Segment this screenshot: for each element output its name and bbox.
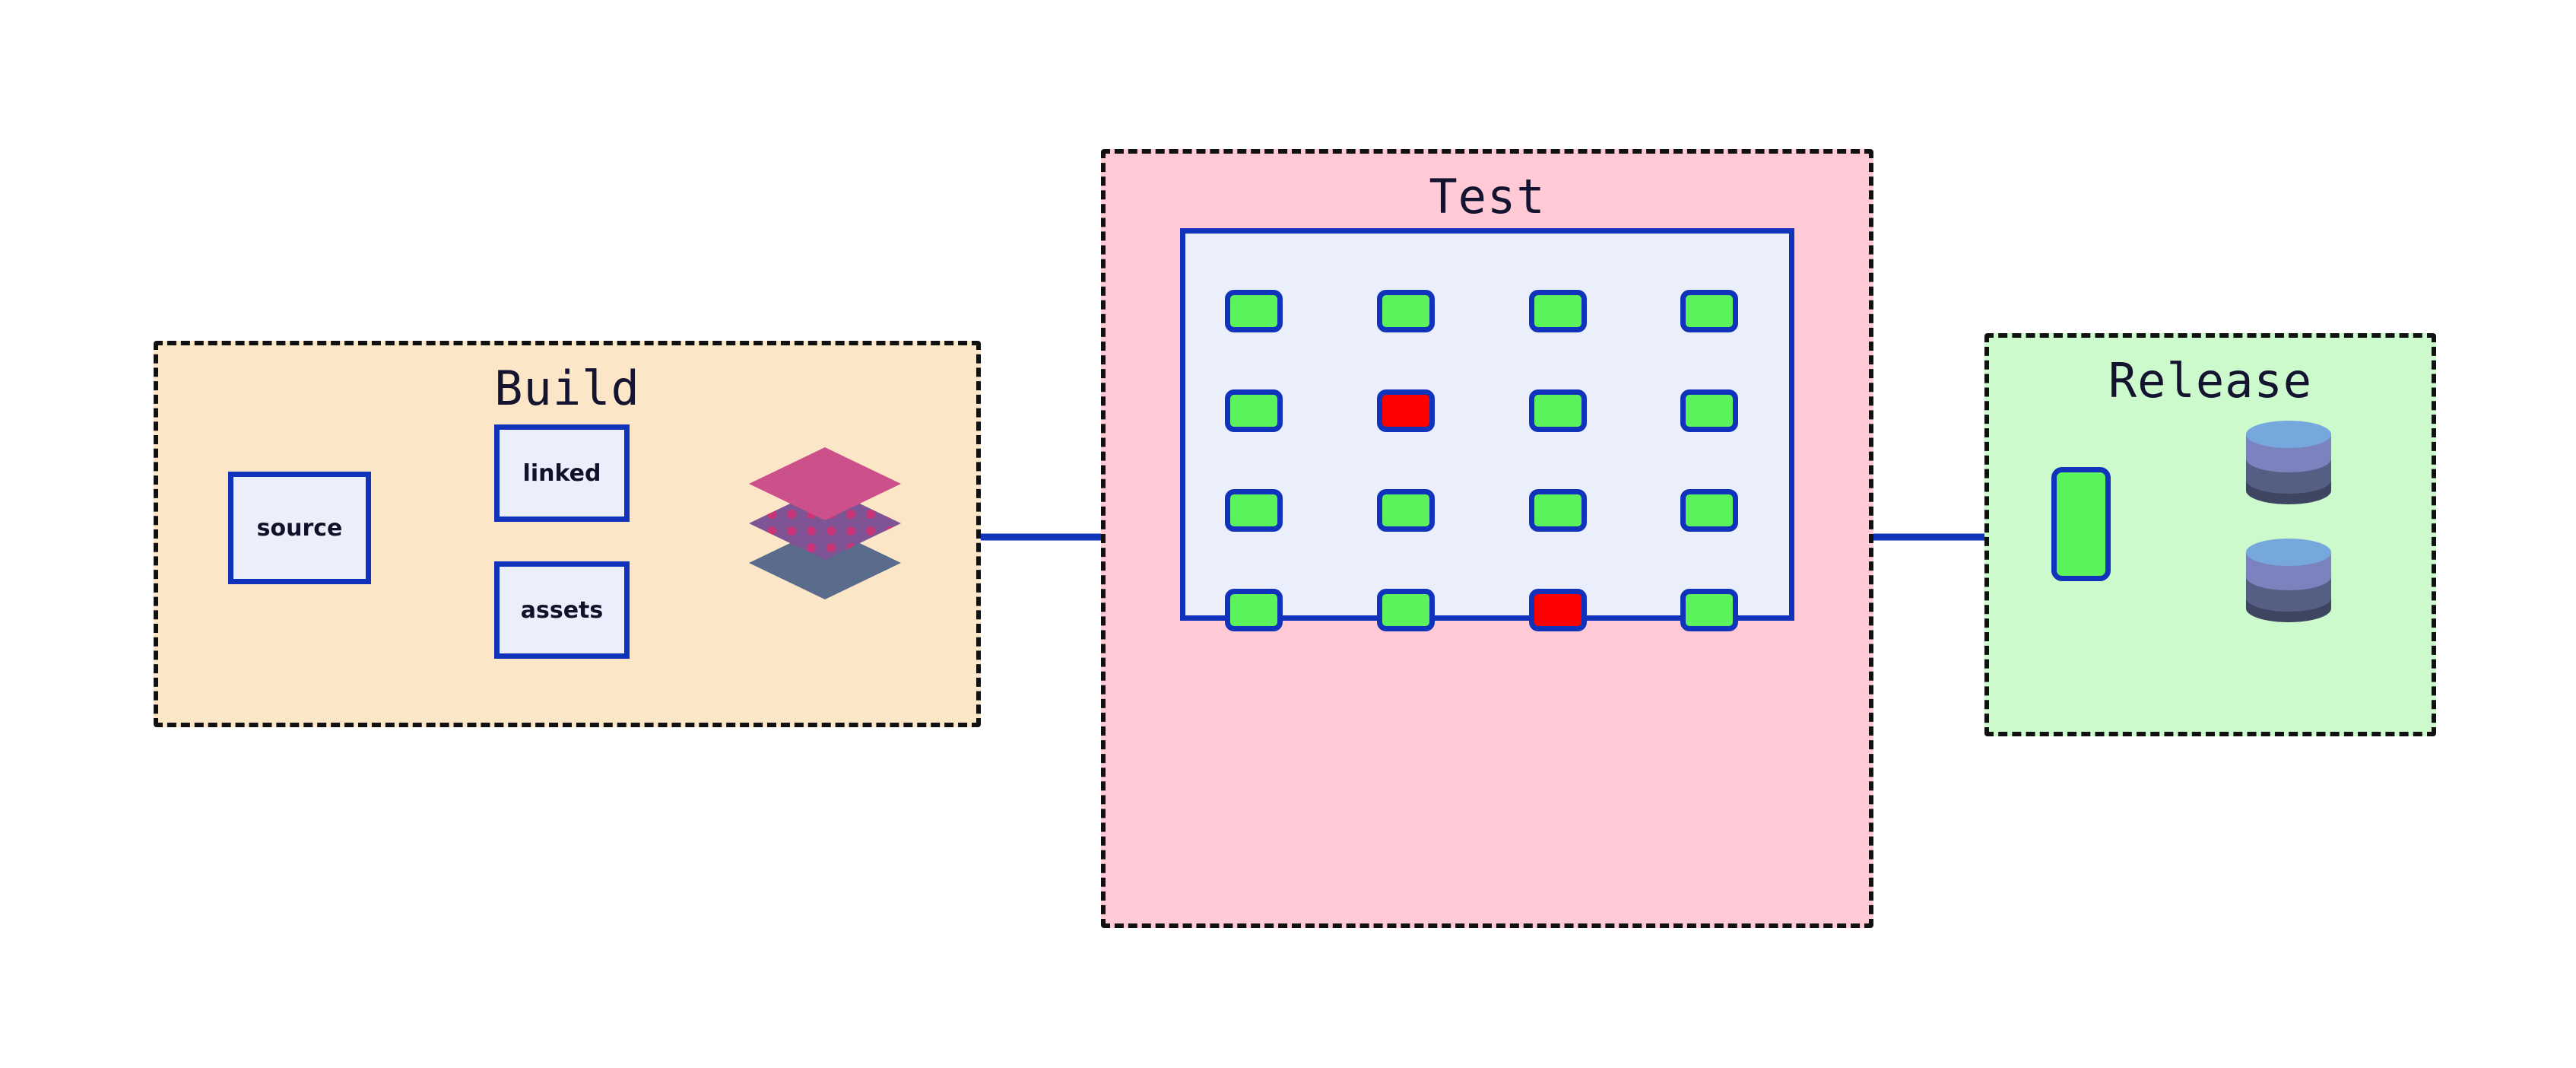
node-linked-label: linked [523,460,601,487]
stage-build-title: Build [158,365,976,412]
test-cell-fail-r2c2[interactable] [1377,389,1435,432]
test-cell-pass-r4c4[interactable] [1680,589,1738,631]
test-cell-pass-r2c4[interactable] [1680,389,1738,432]
test-cell-pass-r3c1[interactable] [1225,489,1283,532]
test-cell-pass-r1c2[interactable] [1377,290,1435,332]
node-source-label: source [257,515,343,542]
stacked-layers-icon [745,441,905,609]
node-linked[interactable]: linked [494,424,630,522]
test-results-panel [1180,228,1794,621]
test-cell-pass-r1c4[interactable] [1680,290,1738,332]
test-cell-pass-r1c1[interactable] [1225,290,1283,332]
node-assets-label: assets [521,597,604,624]
database-icon[interactable] [2243,415,2334,504]
test-cell-pass-r3c4[interactable] [1680,489,1738,532]
stage-test-title: Test [1106,173,1869,221]
test-cell-pass-r2c3[interactable] [1529,389,1587,432]
test-cell-pass-r3c3[interactable] [1529,489,1587,532]
database-icon[interactable] [2243,532,2334,622]
node-assets[interactable]: assets [494,561,630,659]
test-cell-fail-r4c3[interactable] [1529,589,1587,631]
diagram-canvas: Build source linked assets Test Release [0,0,2576,1068]
stage-release-title: Release [1989,358,2432,405]
test-cell-pass-r4c2[interactable] [1377,589,1435,631]
test-cell-pass-r1c3[interactable] [1529,290,1587,332]
node-source[interactable]: source [228,472,371,584]
test-cell-pass-r3c2[interactable] [1377,489,1435,532]
test-results-grid [1225,290,1760,631]
test-cell-pass-r2c1[interactable] [1225,389,1283,432]
release-gate[interactable] [2051,467,2111,581]
test-cell-pass-r4c1[interactable] [1225,589,1283,631]
